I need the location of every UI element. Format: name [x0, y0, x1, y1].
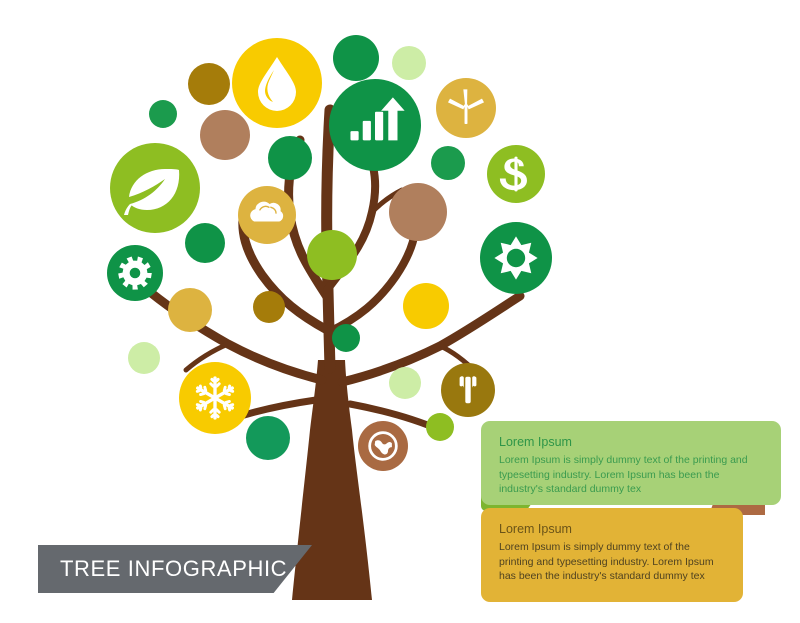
- node-dot-2[interactable]: [392, 46, 426, 80]
- node-dot-17[interactable]: [246, 416, 290, 460]
- node-leaf[interactable]: [110, 143, 200, 233]
- node-dot-16[interactable]: [426, 413, 454, 441]
- callout-green-body: Lorem Ipsum is simply dummy text of the …: [499, 453, 761, 498]
- node-dot-3[interactable]: [188, 63, 230, 105]
- node-dot-5-circle: [200, 110, 250, 160]
- title-banner: TREE INFOGRAPHIC: [38, 545, 312, 593]
- node-dot-18[interactable]: [332, 324, 360, 352]
- node-dot-13[interactable]: [128, 342, 160, 374]
- node-dot-3-circle: [188, 63, 230, 105]
- callout-yellow-body: Lorem Ipsum is simply dummy text of the …: [499, 540, 723, 585]
- node-dot-15-circle: [389, 367, 421, 399]
- node-dot-1-circle: [333, 35, 379, 81]
- node-dot-11[interactable]: [168, 288, 212, 332]
- callout-green-title: Lorem Ipsum: [499, 435, 761, 451]
- node-dot-4[interactable]: [149, 100, 177, 128]
- node-dot-12[interactable]: [253, 291, 285, 323]
- node-dot-6-circle: [268, 136, 312, 180]
- node-dot-13-circle: [128, 342, 160, 374]
- infographic-canvas: TREE INFOGRAPHIC Lorem Ipsum Lorem Ipsum…: [0, 0, 800, 623]
- node-dot-6[interactable]: [268, 136, 312, 180]
- node-cloud[interactable]: [238, 186, 296, 244]
- node-water-drop[interactable]: [232, 38, 322, 128]
- node-dot-11-circle: [168, 288, 212, 332]
- node-cactus[interactable]: [441, 363, 495, 417]
- node-dot-15[interactable]: [389, 367, 421, 399]
- callout-yellow[interactable]: Lorem Ipsum Lorem Ipsum is simply dummy …: [481, 508, 743, 602]
- callout-green[interactable]: Lorem Ipsum Lorem Ipsum is simply dummy …: [481, 421, 781, 505]
- node-dot-4-circle: [149, 100, 177, 128]
- node-dot-10-circle: [185, 223, 225, 263]
- node-dot-8-circle: [431, 146, 465, 180]
- node-dot-8[interactable]: [431, 146, 465, 180]
- callout-yellow-title: Lorem Ipsum: [499, 522, 723, 538]
- node-dot-9-circle: [307, 230, 357, 280]
- node-dot-16-circle: [426, 413, 454, 441]
- page-title: TREE INFOGRAPHIC: [60, 556, 287, 582]
- node-dot-7[interactable]: [389, 183, 447, 241]
- node-leaf-circle: [110, 143, 200, 233]
- node-growth-chart[interactable]: [329, 79, 421, 171]
- node-dot-17-circle: [246, 416, 290, 460]
- node-dot-14[interactable]: [403, 283, 449, 329]
- node-dot-18-circle: [332, 324, 360, 352]
- node-dot-2-circle: [392, 46, 426, 80]
- node-dot-5[interactable]: [200, 110, 250, 160]
- node-sun[interactable]: [480, 222, 552, 294]
- node-snowflake[interactable]: [179, 362, 251, 434]
- tree-branches: [150, 110, 520, 600]
- node-dot-12-circle: [253, 291, 285, 323]
- node-dot-10[interactable]: [185, 223, 225, 263]
- node-dot-1[interactable]: [333, 35, 379, 81]
- node-dot-14-circle: [403, 283, 449, 329]
- node-dot-9[interactable]: [307, 230, 357, 280]
- node-dollar[interactable]: [487, 145, 545, 203]
- sun-icon: [494, 236, 537, 279]
- node-gear[interactable]: [107, 245, 163, 301]
- node-globe[interactable]: [358, 421, 408, 471]
- node-wind-turbine[interactable]: [436, 78, 496, 138]
- node-dot-7-circle: [389, 183, 447, 241]
